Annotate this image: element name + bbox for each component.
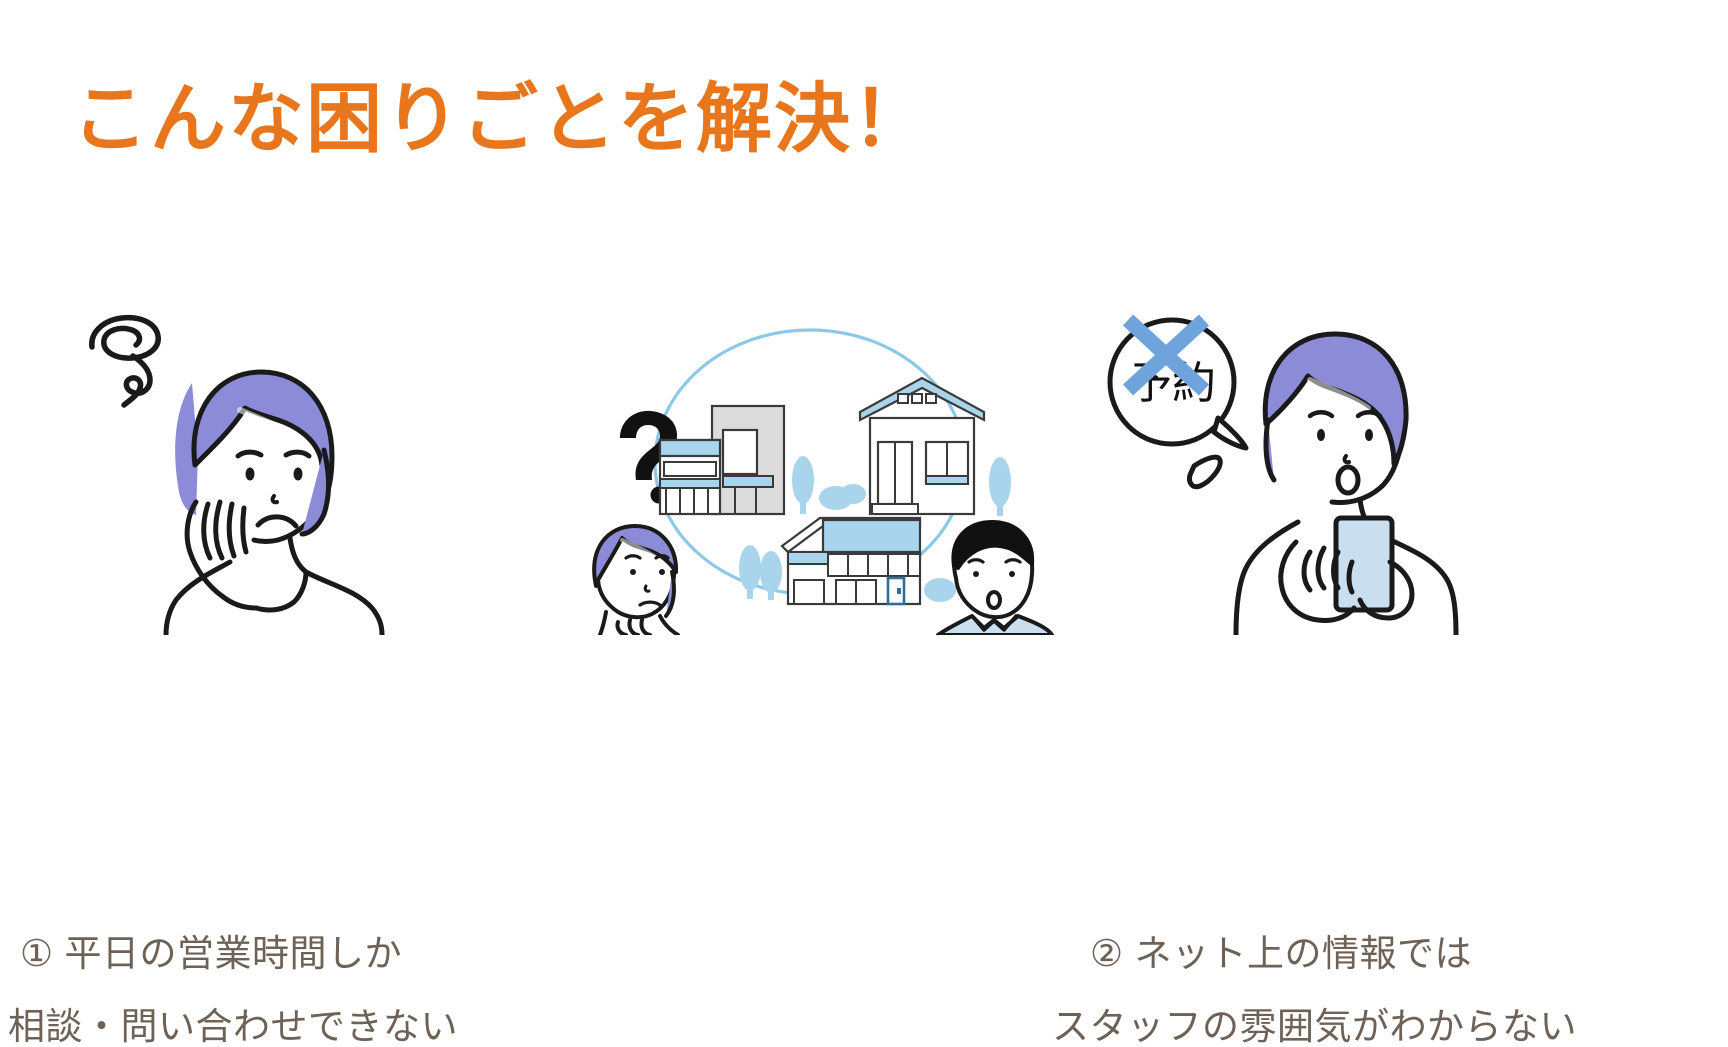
- illustration-people-and-buildings: [520, 290, 1050, 635]
- two-story-building-icon: [782, 518, 920, 604]
- caption-problem-1: ① 平日の営業時間しか 相談・問い合わせできない: [20, 935, 402, 972]
- caption-2-line-1: ② ネット上の情報では: [1090, 935, 1472, 972]
- page-title: こんな困りごとを解決！: [72, 78, 930, 162]
- tree-icon: [989, 457, 1011, 516]
- bush-icon: [924, 578, 956, 602]
- slide-root: こんな困りごとを解決！: [0, 0, 1728, 948]
- caption-problem-2: ② ネット上の情報では スタッフの雰囲気がわからない: [1090, 935, 1472, 972]
- illustration-worried-woman: [0, 290, 520, 635]
- caption-1-line-1: ① 平日の営業時間しか: [20, 935, 402, 972]
- woman-holding-phone: [1236, 334, 1456, 635]
- caption-2-line-2: スタッフの雰囲気がわからない: [1052, 1008, 1577, 1045]
- illustration-woman-with-phone: 予約: [1050, 290, 1728, 635]
- sweat-drop-icon: [1189, 457, 1220, 487]
- buildings-thought-svg: [560, 290, 1060, 635]
- caption-1-line-2: 相談・問い合わせできない: [8, 1008, 458, 1045]
- worried-woman-svg: [80, 290, 400, 635]
- man-surprised: [938, 522, 1052, 635]
- scribble-thought-cloud: [92, 318, 158, 405]
- woman-phone-svg: 予約: [1060, 290, 1460, 635]
- problem-column-1: ① 平日の営業時間しか 相談・問い合わせできない: [0, 290, 520, 635]
- problem-column-3: 予約: [1050, 290, 1728, 635]
- problem-column-2: ② ネット上の情報では スタッフの雰囲気がわからない: [520, 290, 1050, 635]
- woman-thinking: [594, 526, 678, 635]
